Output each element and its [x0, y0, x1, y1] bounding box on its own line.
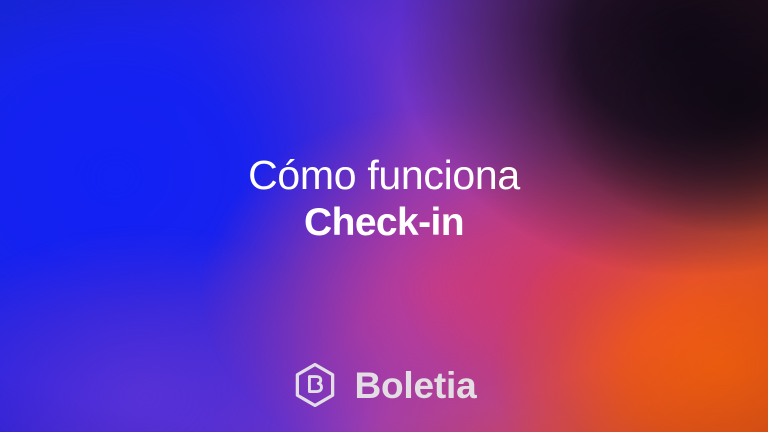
title-card: Cómo funciona Check-in Boletia: [0, 0, 768, 432]
brand-logo-lockup: Boletia: [0, 362, 768, 408]
boletia-wordmark: Boletia: [355, 367, 477, 404]
slide-content: Cómo funciona Check-in Boletia: [0, 0, 768, 432]
headline-line-primary: Cómo funciona: [0, 155, 768, 196]
headline-line-emphasis: Check-in: [0, 203, 768, 242]
page-title: Cómo funciona Check-in: [0, 155, 768, 242]
boletia-hexagon-logo-icon: [292, 362, 338, 408]
